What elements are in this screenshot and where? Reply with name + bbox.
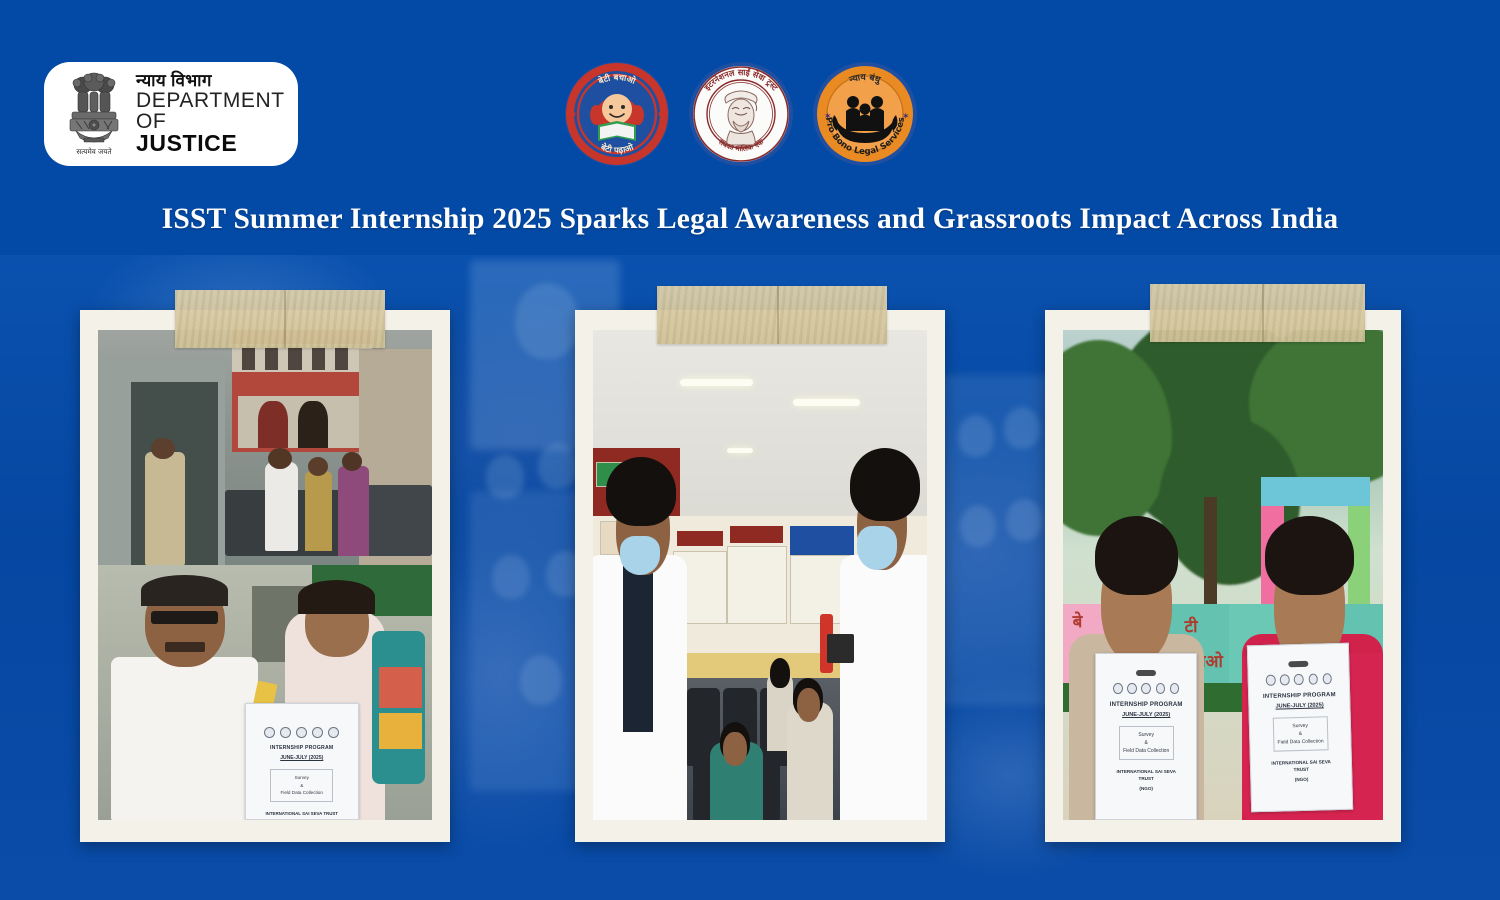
seal-icon bbox=[1322, 673, 1332, 684]
document-body-line3: Field Data Collection bbox=[1275, 737, 1325, 746]
nyaya-bandhu-pro-bono-logo: ✶ ✶ न्याय बंधु Pro bbox=[810, 57, 920, 171]
internship-document: INTERNSHIP PROGRAM JUNE-JULY (2025) Surv… bbox=[245, 703, 359, 820]
doj-line2: JUSTICE bbox=[136, 132, 286, 155]
internship-document: INTERNSHIP PROGRAM JUNE-JULY (2025) Surv… bbox=[1246, 642, 1353, 811]
document-clip bbox=[1136, 670, 1155, 676]
document-body: Survey & Field Data Collection bbox=[1272, 716, 1328, 751]
document-org-line2: (NGO) bbox=[1294, 776, 1308, 783]
document-body: Survey & Field Data Collection bbox=[1119, 726, 1174, 760]
internship-document: INTERNSHIP PROGRAM JUNE-JULY (2025) Surv… bbox=[1095, 653, 1197, 820]
seal-icon bbox=[264, 727, 275, 738]
document-heading: INTERNSHIP PROGRAM bbox=[270, 745, 333, 752]
handheld-device bbox=[827, 634, 854, 663]
document-seals bbox=[264, 727, 339, 738]
seal-icon bbox=[1280, 674, 1290, 685]
ghost-child bbox=[538, 443, 578, 489]
seal-icon bbox=[1294, 673, 1304, 684]
masking-tape bbox=[1150, 284, 1365, 342]
document-body-line1: Survey bbox=[1122, 731, 1171, 739]
ghost-child bbox=[1006, 499, 1042, 541]
document-body-line2: & bbox=[1122, 739, 1171, 747]
seal-icon bbox=[1141, 683, 1150, 694]
document-org-line1: INTERNATIONAL SAI SEVA TRUST bbox=[265, 811, 338, 818]
seal-icon bbox=[1265, 674, 1275, 685]
page-header: सत्यमेव जयते न्याय विभाग DEPARTMENT OF J… bbox=[0, 0, 1500, 200]
photo1-lower-scene: INTERNSHIP PROGRAM JUNE-JULY (2025) Surv… bbox=[98, 565, 432, 820]
emblem-motto: सत्यमेव जयते bbox=[76, 147, 112, 156]
document-body: Survey & Field Data Collection bbox=[270, 769, 333, 801]
document-body-line1: Survey bbox=[273, 774, 330, 781]
intern-right bbox=[840, 555, 927, 820]
seal-icon bbox=[296, 727, 307, 738]
ashoka-lion-capital-emblem: सत्यमेव जयते bbox=[62, 70, 126, 158]
photo1-upper-scene bbox=[98, 330, 432, 565]
document-seals bbox=[1113, 683, 1179, 694]
beti-bachao-beti-padhao-logo: बेटी बचाओ बेटी पढ़ाओ bbox=[562, 57, 672, 171]
document-subheading: JUNE-JULY (2025) bbox=[280, 755, 323, 761]
page-title: ISST Summer Internship 2025 Sparks Legal… bbox=[0, 203, 1500, 236]
document-body-line3: Field Data Collection bbox=[273, 789, 330, 796]
seal-icon bbox=[1170, 683, 1179, 694]
seal-icon bbox=[328, 727, 339, 738]
seal-icon bbox=[1127, 683, 1136, 694]
ghost-child bbox=[958, 415, 994, 457]
seal-icon bbox=[280, 727, 291, 738]
seal-icon bbox=[1308, 673, 1318, 684]
document-subheading: JUNE-JULY (2025) bbox=[1275, 702, 1323, 709]
photo-hospital-awareness-interaction bbox=[575, 310, 945, 842]
photo-court-premises-and-survey: INTERNSHIP PROGRAM JUNE-JULY (2025) Surv… bbox=[80, 310, 450, 842]
document-subheading: JUNE-JULY (2025) bbox=[1122, 712, 1170, 718]
department-of-justice-logo: सत्यमेव जयते न्याय विभाग DEPARTMENT OF J… bbox=[44, 62, 298, 166]
document-clip bbox=[1288, 660, 1308, 667]
masking-tape bbox=[657, 286, 887, 344]
document-body-line2: & bbox=[273, 782, 330, 789]
seal-icon bbox=[312, 727, 323, 738]
document-heading: INTERNSHIP PROGRAM bbox=[1262, 691, 1335, 701]
photo-school-gate-beti-bachao: बे बच टी ाओ बेटी बचाओ बेटी पढ़ाओ H&M INT… bbox=[1045, 310, 1401, 842]
doj-hindi-label: न्याय विभाग bbox=[136, 72, 286, 89]
international-sai-seva-trust-logo: इंटरनेशनल साईं सेवा ट्रस्ट सबका मालिक एक bbox=[686, 57, 796, 171]
document-seals bbox=[1265, 673, 1331, 686]
seal-icon bbox=[1156, 683, 1165, 694]
partner-logos: बेटी बचाओ बेटी पढ़ाओ bbox=[562, 57, 920, 171]
document-org-line1: INTERNATIONAL SAI SEVA TRUST bbox=[1263, 759, 1338, 775]
doj-line1: DEPARTMENT OF bbox=[136, 90, 286, 133]
document-heading: INTERNSHIP PROGRAM bbox=[1110, 701, 1183, 709]
masking-tape bbox=[175, 290, 385, 348]
ghost-poster-figure bbox=[515, 283, 579, 359]
ghost-child bbox=[1004, 407, 1040, 449]
seal-icon bbox=[1113, 683, 1122, 694]
document-org-line2: (NGO) bbox=[1139, 786, 1153, 793]
ghost-child bbox=[960, 505, 996, 547]
document-org-line1: INTERNATIONAL SAI SEVA TRUST bbox=[1109, 769, 1184, 783]
document-body-line3: Field Data Collection bbox=[1122, 747, 1171, 755]
